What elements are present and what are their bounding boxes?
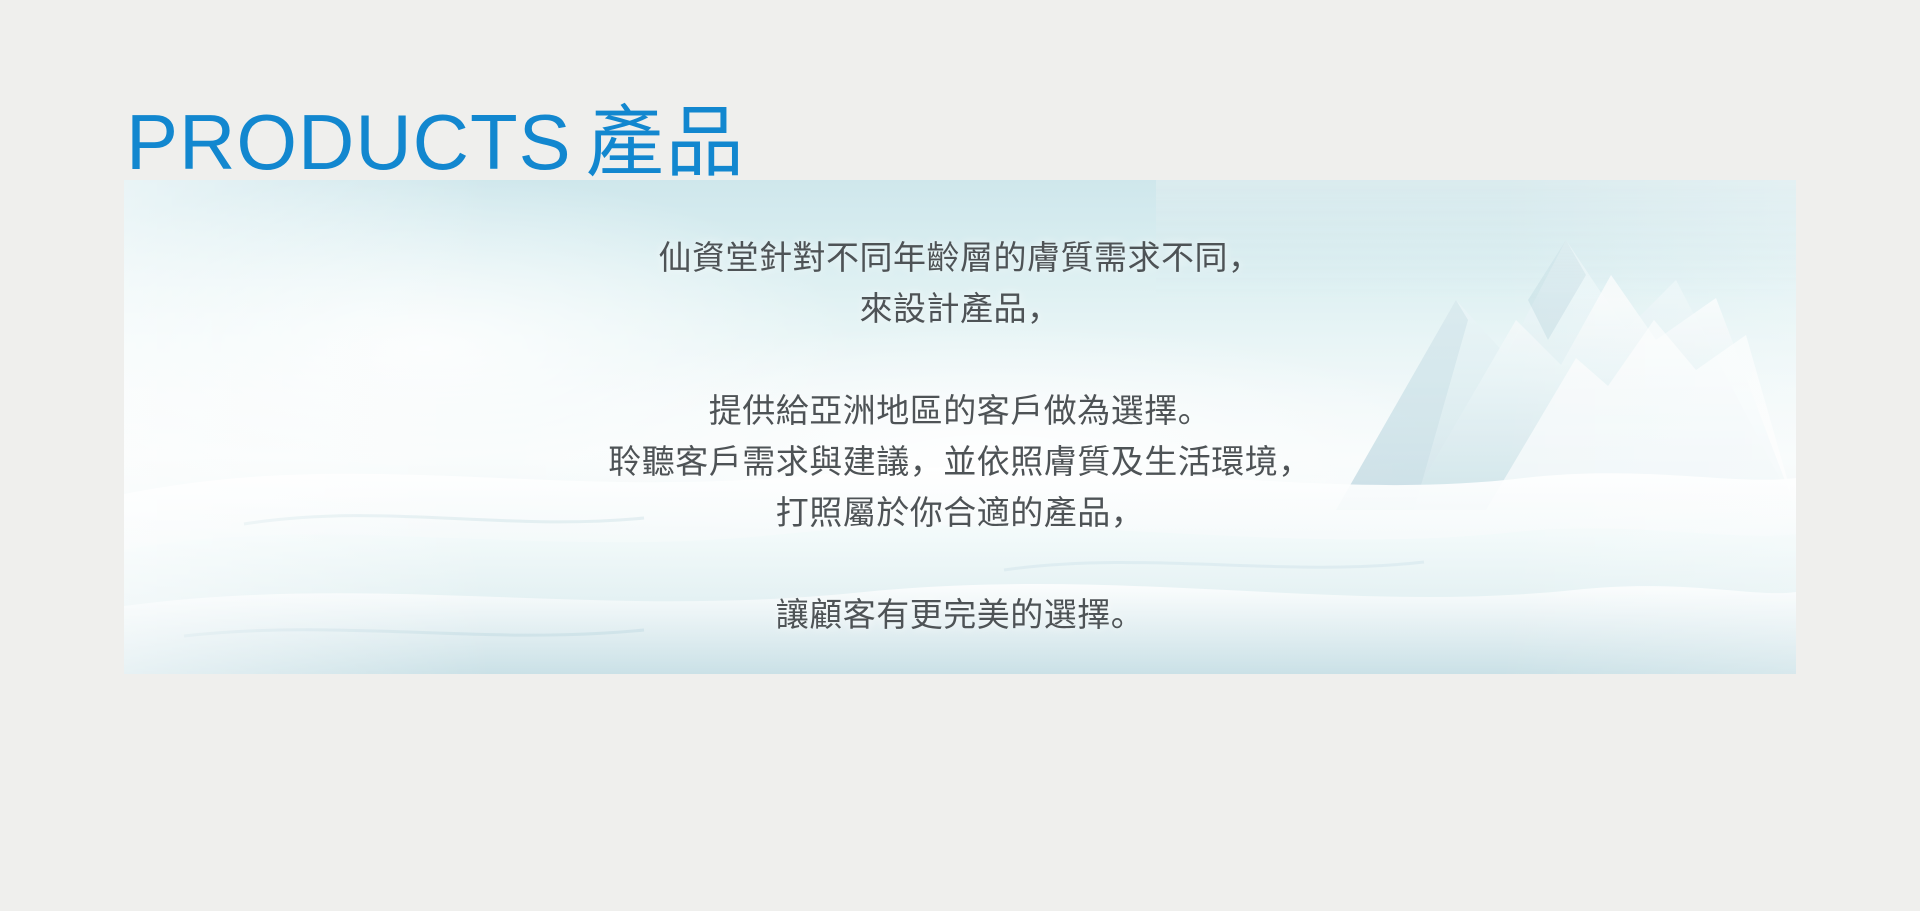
hero-description-line-2: 來設計產品， — [124, 283, 1796, 334]
hero-description-line-4: 提供給亞洲地區的客戶做為選擇。 — [124, 385, 1796, 436]
hero-description-line-5: 聆聽客戶需求與建議，並依照膚質及生活環境， — [124, 436, 1796, 487]
page-title: PRODUCTS產品 — [126, 94, 746, 191]
hero-description: 仙資堂針對不同年齡層的膚質需求不同， 來設計產品， 提供給亞洲地區的客戶做為選擇… — [124, 232, 1796, 640]
hero-description-line-8: 讓顧客有更完美的選擇。 — [124, 589, 1796, 640]
hero-description-line-1: 仙資堂針對不同年齡層的膚質需求不同， — [124, 232, 1796, 283]
hero-banner: 仙資堂針對不同年齡層的膚質需求不同， 來設計產品， 提供給亞洲地區的客戶做為選擇… — [124, 180, 1796, 674]
hero-description-line-6: 打照屬於你合適的產品， — [124, 487, 1796, 538]
products-page: PRODUCTS產品 — [0, 0, 1920, 911]
page-title-chinese: 產品 — [586, 98, 746, 188]
hero-description-line-7 — [124, 538, 1796, 589]
page-title-english: PRODUCTS — [126, 98, 572, 186]
hero-description-line-3 — [124, 334, 1796, 385]
